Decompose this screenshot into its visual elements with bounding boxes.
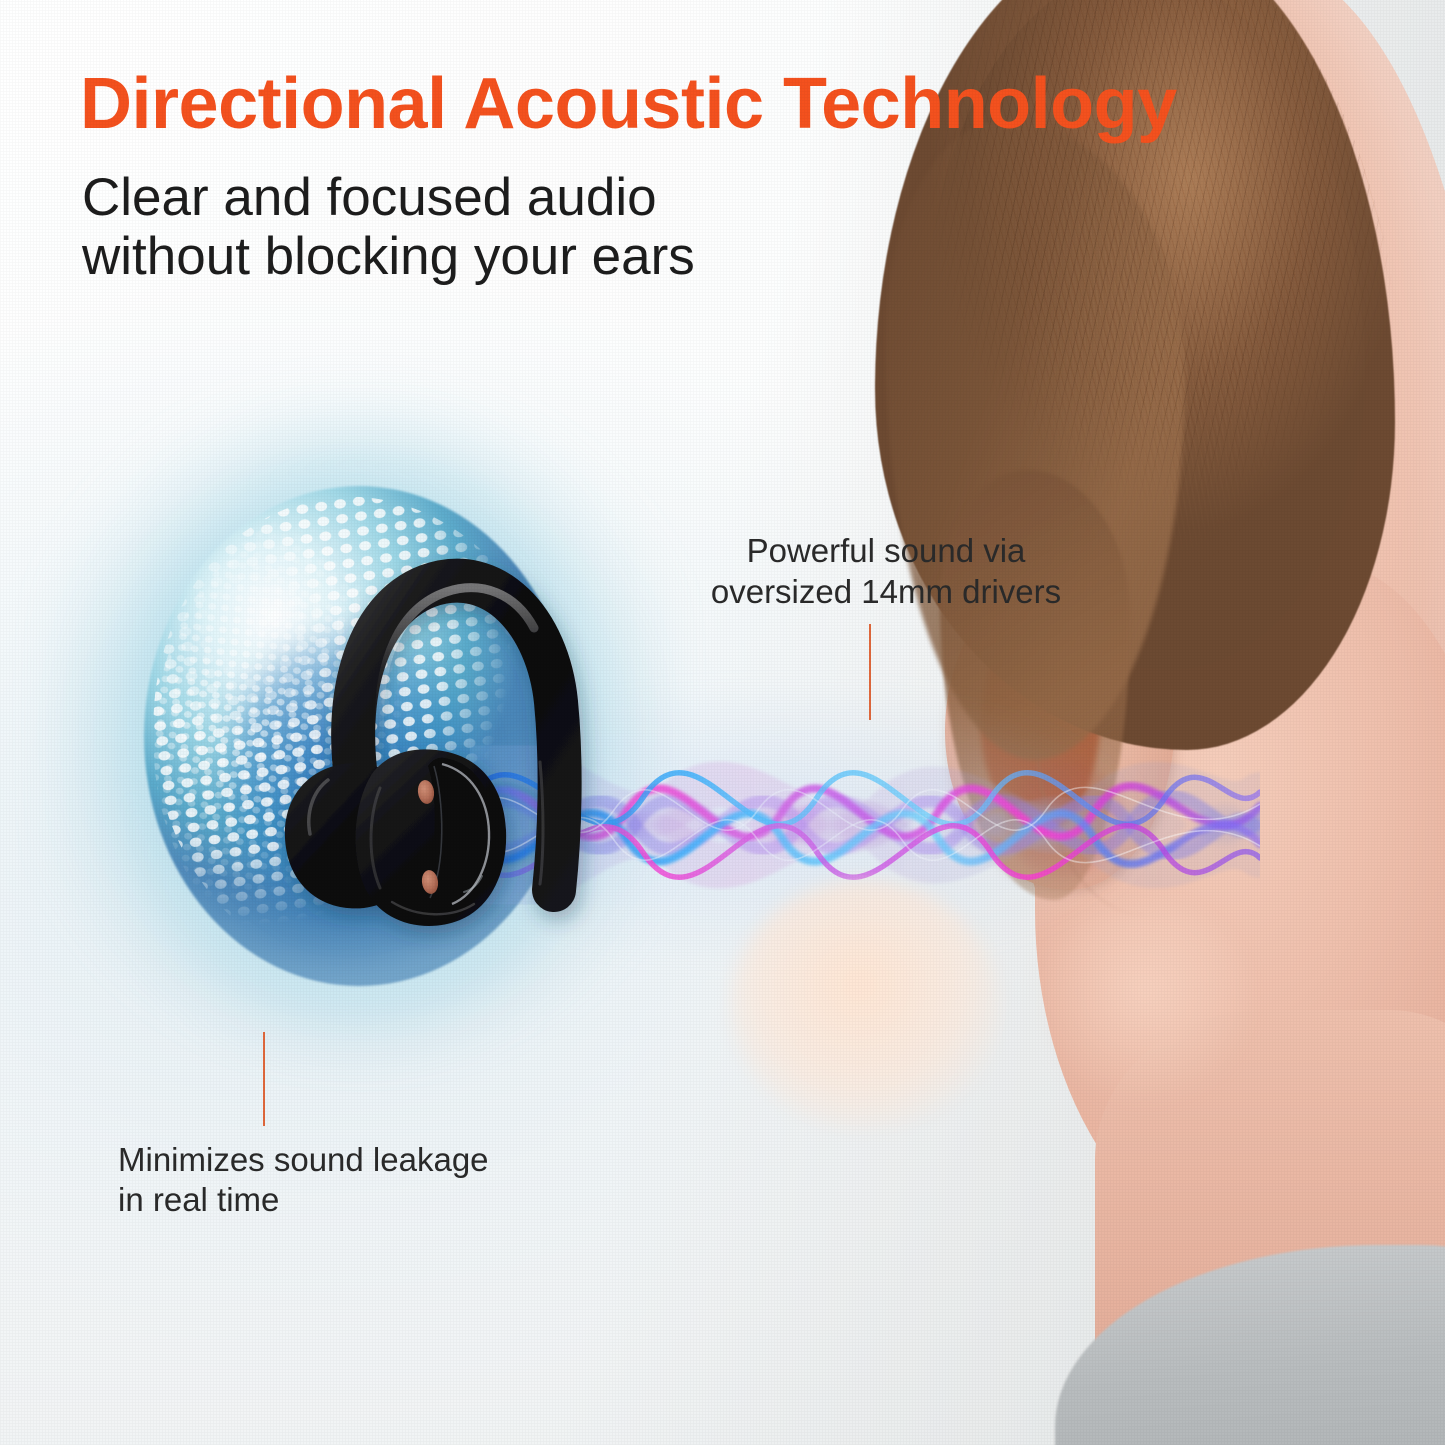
callout-leakage-connector-line xyxy=(263,1032,265,1126)
subtitle-line-2: without blocking your ears xyxy=(82,227,982,286)
product-feature-banner: Directional Acoustic Technology Clear an… xyxy=(0,0,1445,1445)
subtitle-line-1: Clear and focused audio xyxy=(82,168,982,227)
page-title: Directional Acoustic Technology xyxy=(80,68,1400,140)
callout-driver-line-2: oversized 14mm drivers xyxy=(676,571,1096,612)
warm-bokeh-glow xyxy=(730,880,1000,1130)
callout-leakage: Minimizes sound leakage in real time xyxy=(118,1140,548,1221)
callout-driver-connector-line xyxy=(869,624,871,720)
callout-driver: Powerful sound via oversized 14mm driver… xyxy=(676,530,1096,613)
earbud-product xyxy=(268,552,598,932)
subtitle: Clear and focused audio without blocking… xyxy=(82,168,982,287)
callout-driver-line-1: Powerful sound via xyxy=(676,530,1096,571)
callout-leakage-line-2: in real time xyxy=(118,1180,548,1220)
warm-bokeh-glow-secondary xyxy=(1040,900,1250,1100)
callout-leakage-line-1: Minimizes sound leakage xyxy=(118,1140,548,1180)
